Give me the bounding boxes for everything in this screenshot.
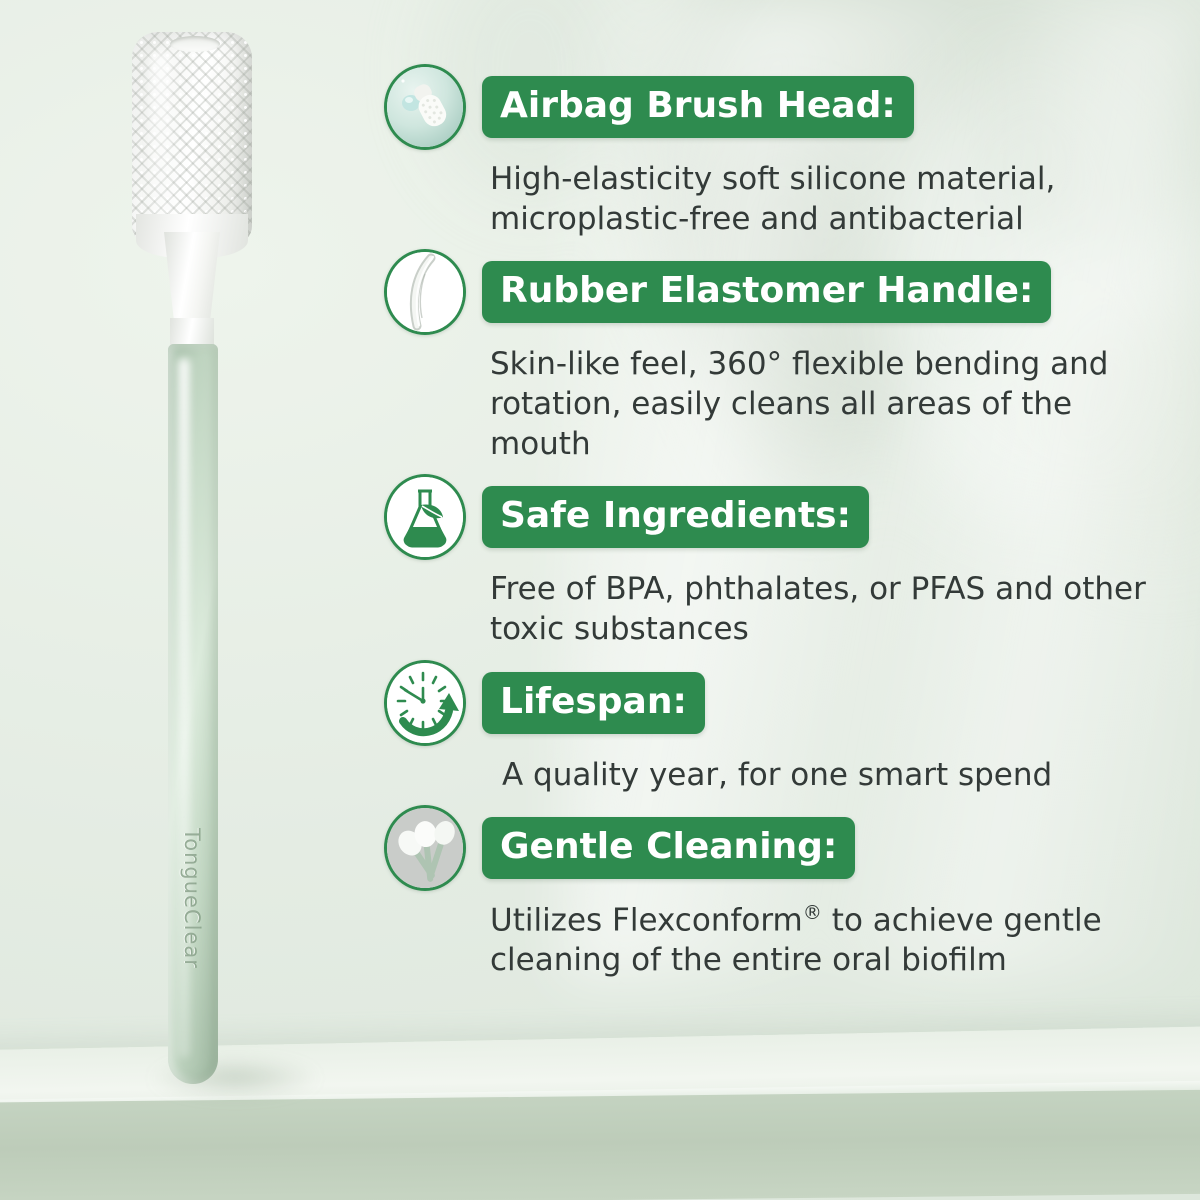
- flask-leaf-icon: [384, 474, 466, 560]
- registered-trademark-symbol: ®: [803, 901, 822, 924]
- brush-head-cap: [170, 36, 220, 52]
- three-brushes-icon: [384, 805, 466, 891]
- feature-body-text: Utilizes Flexconform® to achieve gentle …: [490, 901, 1170, 981]
- feature-title-badge: Lifespan:: [482, 672, 705, 734]
- brush-head-photo-icon: [384, 64, 466, 150]
- feature-title-badge: Gentle Cleaning:: [482, 817, 855, 879]
- clock-arrow-icon: [384, 660, 466, 746]
- flexible-handle-icon: [384, 249, 466, 335]
- brush-head-highlight: [148, 50, 172, 230]
- feature-title-badge: Airbag Brush Head:: [482, 76, 914, 138]
- feature-item-safe-ingredients: Safe Ingredients: Free of BPA, phthalate…: [384, 474, 1174, 649]
- feature-item-gentle-cleaning: Gentle Cleaning: Utilizes Flexconform® t…: [384, 805, 1174, 981]
- feature-item-airbag-brush-head: Airbag Brush Head: High-elasticity soft …: [384, 64, 1174, 239]
- feature-body-text: Skin-like feel, 360° flexible bending an…: [490, 345, 1170, 464]
- feature-item-lifespan: Lifespan: A quality year, for one smart …: [384, 660, 1174, 796]
- infographic-canvas: TongueClear: [0, 0, 1200, 1200]
- feature-body-text: High-elasticity soft silicone material, …: [490, 160, 1170, 239]
- feature-body-prefix: Utilizes Flexconform: [490, 903, 803, 939]
- feature-list: Airbag Brush Head: High-elasticity soft …: [384, 64, 1174, 991]
- product-image: TongueClear: [110, 18, 330, 1138]
- brand-embossed-text: TongueClear: [162, 798, 222, 998]
- feature-title-badge: Safe Ingredients:: [482, 486, 869, 548]
- feature-body-text: A quality year, for one smart spend: [502, 756, 1174, 796]
- feature-item-rubber-elastomer-handle: Rubber Elastomer Handle: Skin-like feel,…: [384, 249, 1174, 464]
- brush-head: [132, 32, 252, 244]
- feature-title-badge: Rubber Elastomer Handle:: [482, 261, 1051, 323]
- feature-body-text: Free of BPA, phthalates, or PFAS and oth…: [490, 570, 1170, 649]
